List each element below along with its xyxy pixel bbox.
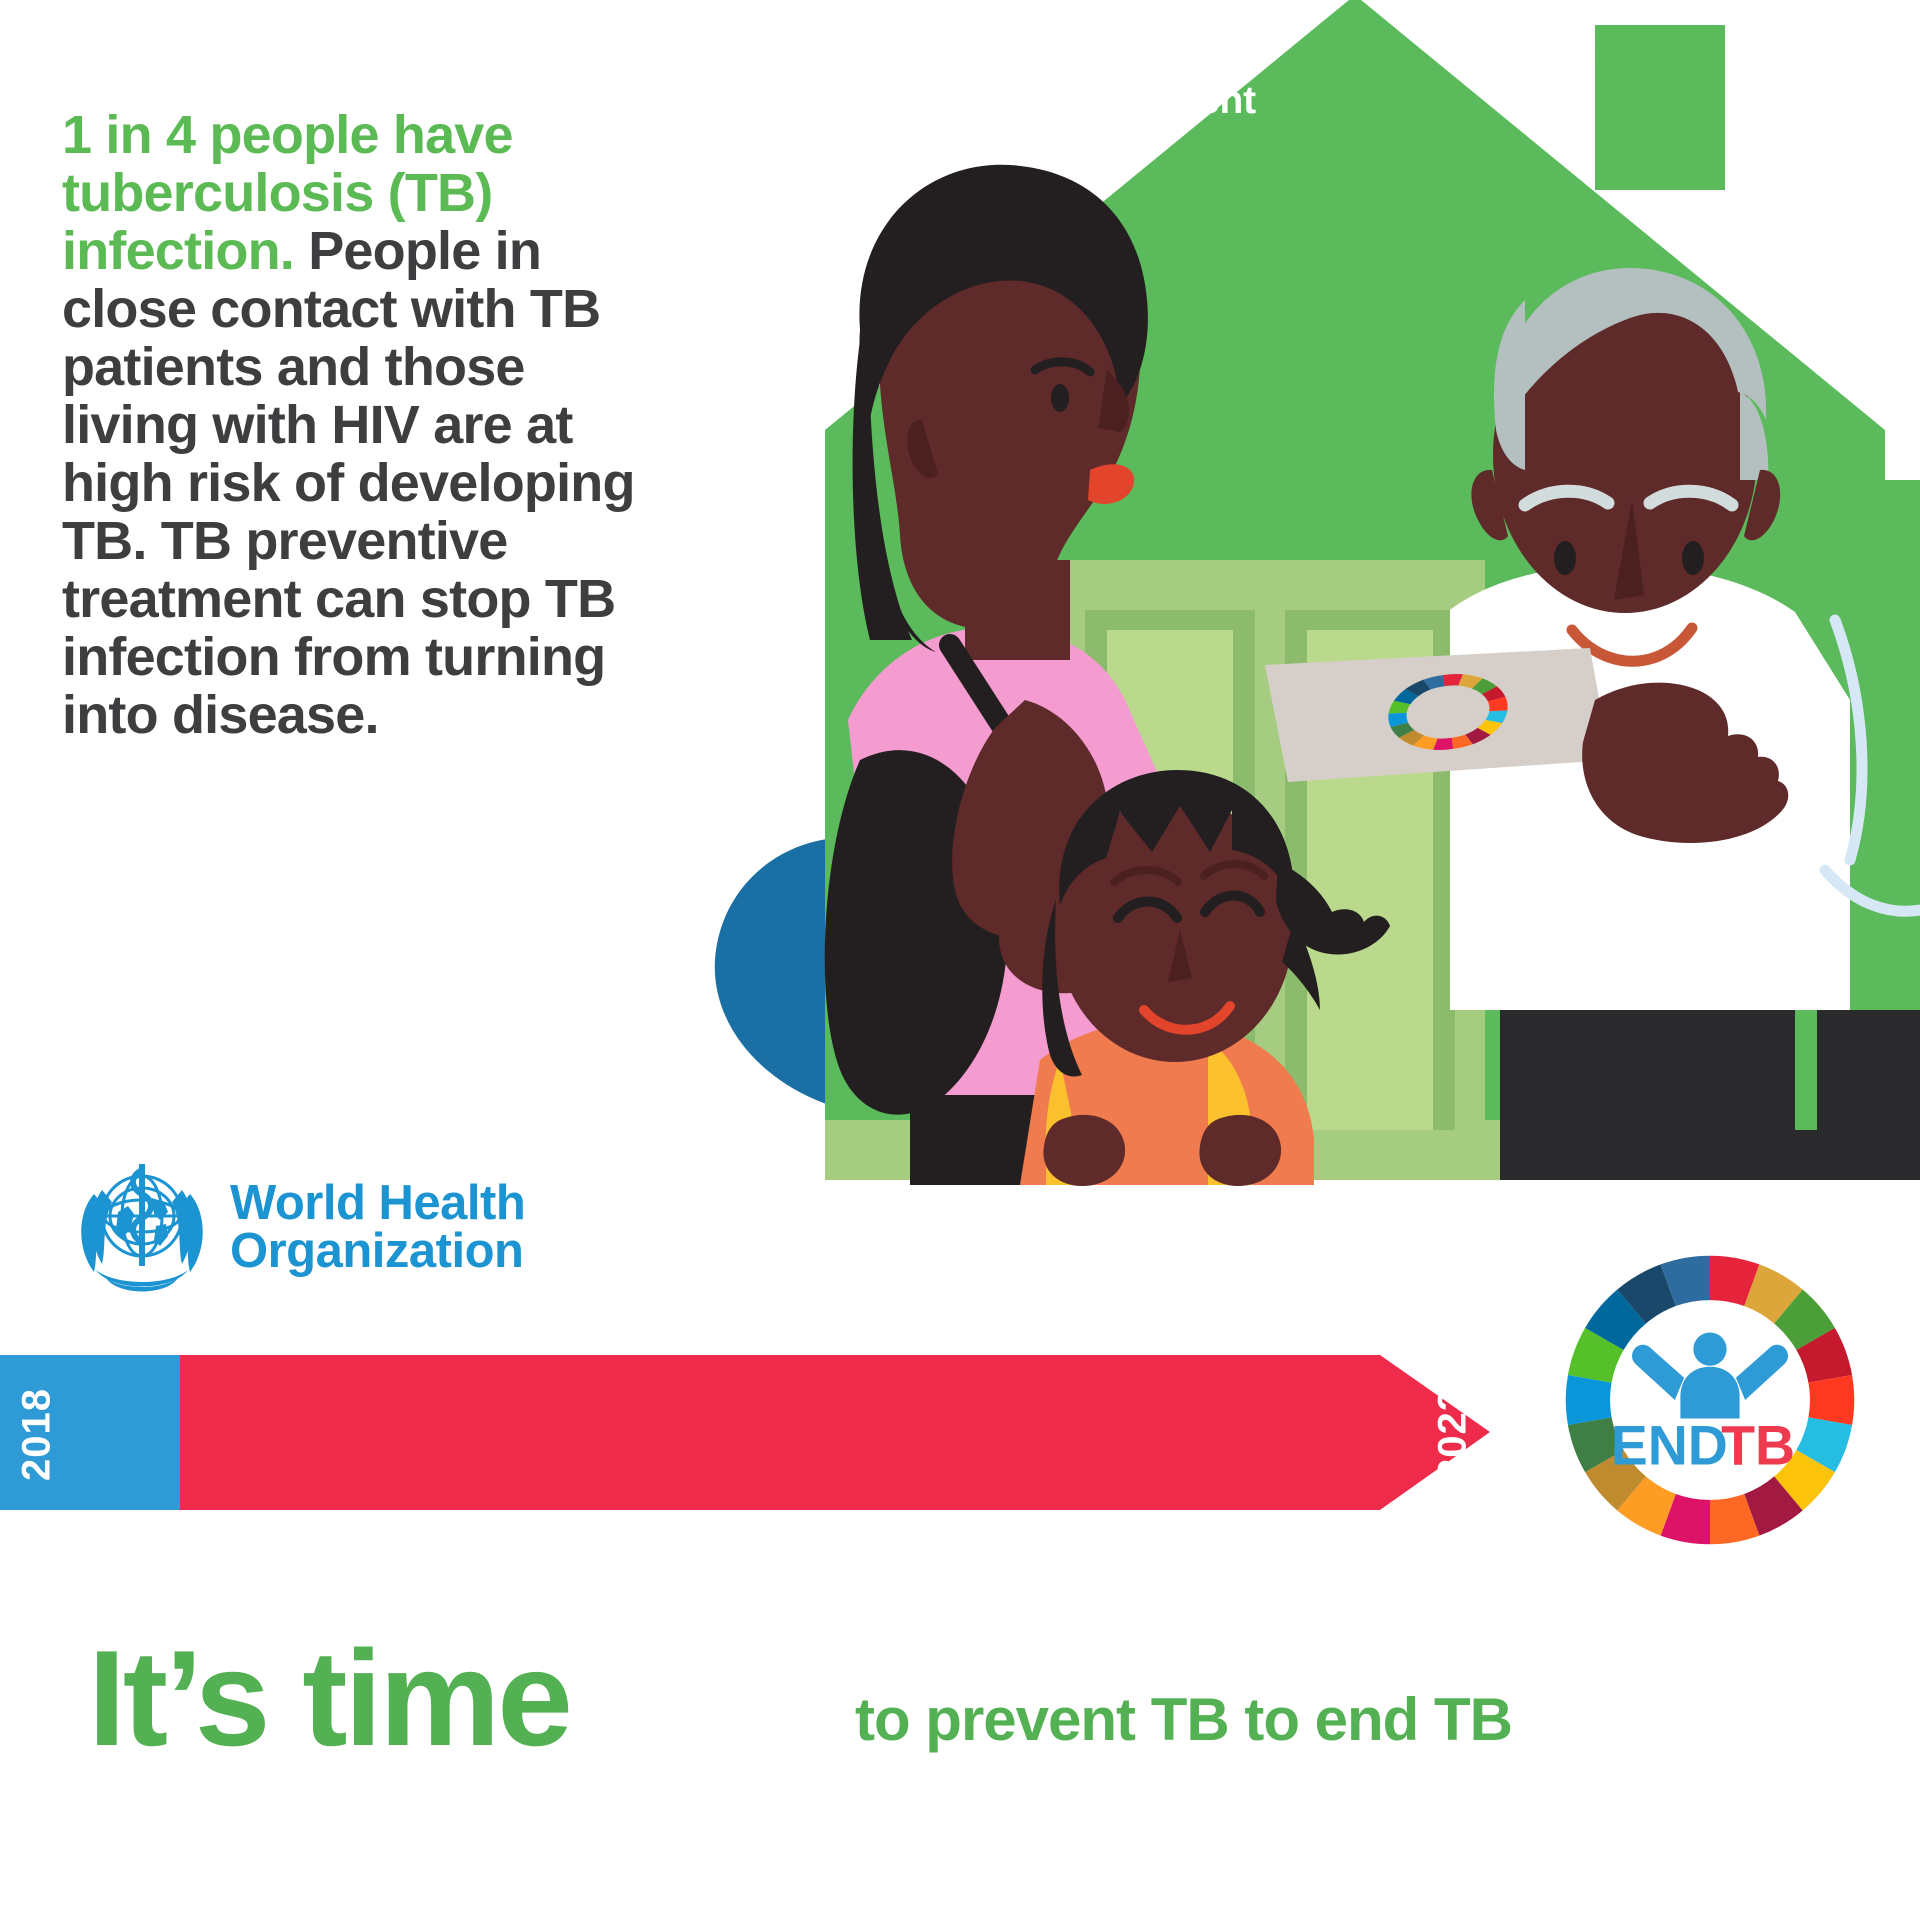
- banner-arrow-shape: [0, 1355, 1490, 1510]
- end-year-label: 2022: [1431, 1375, 1476, 1495]
- slogan-secondary: to prevent TB to end TB: [855, 1690, 1512, 1750]
- start-year-label: 2018: [15, 1375, 60, 1495]
- headline-rest: People in close contact with TB patients…: [62, 221, 635, 745]
- banner-line-1: UN High-Level Meeting target:: [514, 31, 1065, 78]
- banner-line-2: >30 million people receive TB preventive…: [324, 78, 1256, 125]
- who-logo: World Health Organization: [72, 1152, 542, 1302]
- end-tb-badge: END TB: [1525, 1215, 1895, 1585]
- headline-paragraph: 1 in 4 people have tuberculosis (TB) inf…: [62, 106, 662, 745]
- who-wordmark: World Health Organization: [230, 1179, 525, 1275]
- slogan-primary: It’s time: [88, 1630, 570, 1766]
- poster-canvas: 1 in 4 people have tuberculosis (TB) inf…: [0, 0, 1920, 1920]
- banner-target-text: UN High-Level Meeting target: >30 millio…: [180, 0, 1400, 155]
- sdg-card: [1265, 648, 1610, 782]
- who-line-1: World Health: [230, 1179, 525, 1227]
- who-emblem-icon: [72, 1154, 212, 1300]
- illustration-area: [620, 0, 1920, 1350]
- badge-end-text: END: [1611, 1415, 1728, 1477]
- badge-tb-text: TB: [1721, 1415, 1795, 1477]
- timeline-banner: [0, 1355, 1490, 1510]
- who-line-2: Organization: [230, 1227, 525, 1275]
